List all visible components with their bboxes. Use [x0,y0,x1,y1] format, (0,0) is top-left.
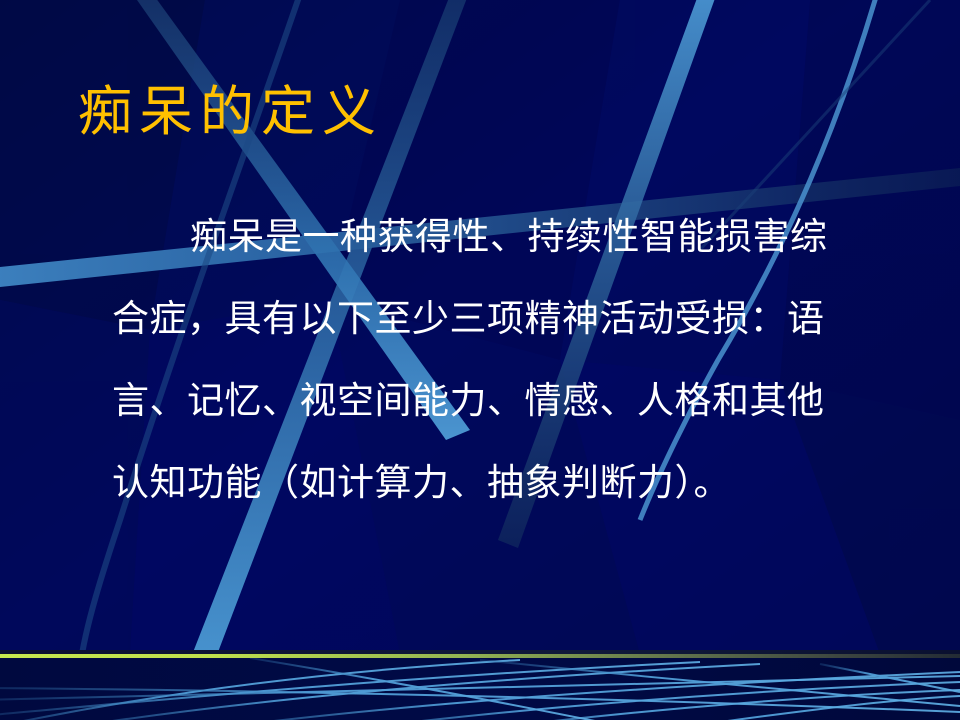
slide-content: 痴呆的定义 痴呆是一种获得性、持续性智能损害综合症，具有以下至少三项精神活动受损… [0,0,960,720]
presentation-slide: 痴呆的定义 痴呆是一种获得性、持续性智能损害综合症，具有以下至少三项精神活动受损… [0,0,960,720]
slide-body: 痴呆是一种获得性、持续性智能损害综合症，具有以下至少三项精神活动受损：语言、记忆… [112,196,854,524]
body-paragraph: 痴呆是一种获得性、持续性智能损害综合症，具有以下至少三项精神活动受损：语言、记忆… [112,196,854,524]
slide-title: 痴呆的定义 [78,82,898,142]
